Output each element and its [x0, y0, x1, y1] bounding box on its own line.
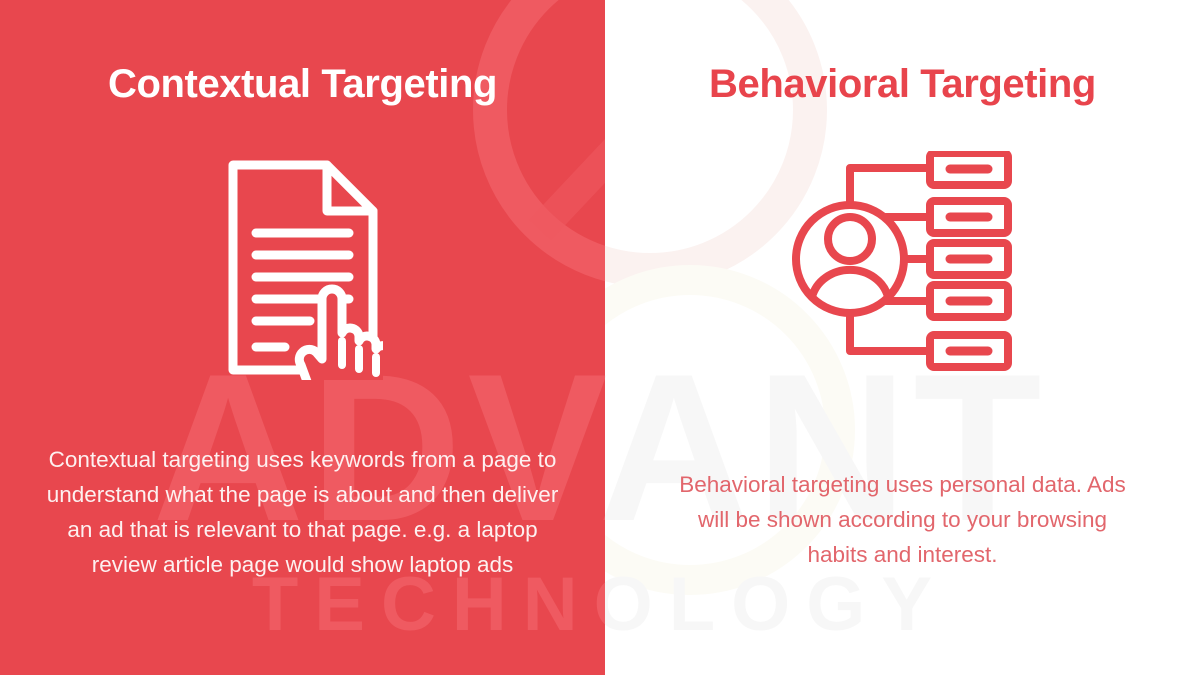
right-panel: Behavioral Targeting: [605, 0, 1200, 675]
right-panel-title: Behavioral Targeting: [709, 62, 1096, 107]
left-panel-body: Contextual targeting uses keywords from …: [43, 442, 563, 582]
left-panel-title: Contextual Targeting: [108, 62, 497, 107]
left-panel: Contextual Targeting: [0, 0, 605, 675]
slide-root: ADVANT TECHNOLOGY ADVANT TECHNOLOGY Cont…: [0, 0, 1200, 675]
right-panel-body: Behavioral targeting uses personal data.…: [668, 467, 1138, 572]
user-network-nodes-icon: [788, 151, 1018, 371]
document-click-icon: [223, 155, 383, 380]
